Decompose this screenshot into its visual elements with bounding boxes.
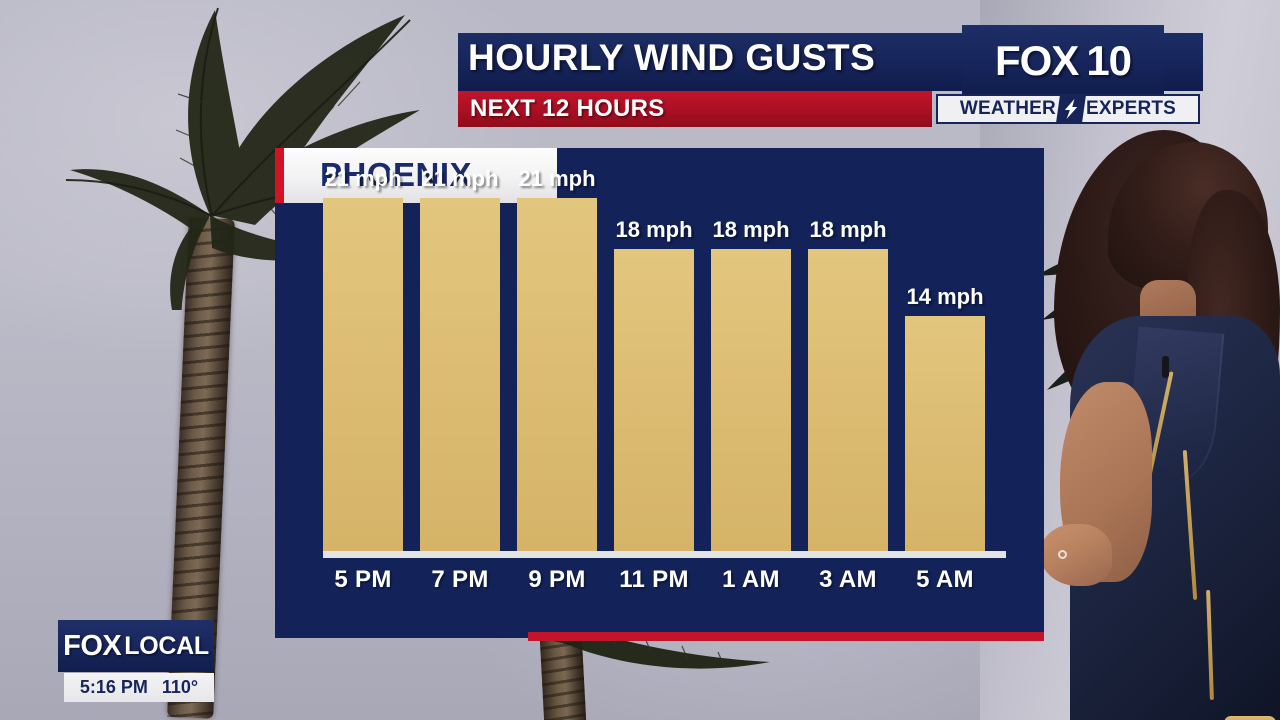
bar-value-label: 18 mph [712,217,789,243]
lightning-bolt-icon [1056,96,1086,122]
headline-text: HOURLY WIND GUSTS [468,37,875,79]
x-axis-label: 1 AM [701,566,801,594]
station-bug: FOX LOCAL 5:16 PM 110° [58,620,214,702]
channel-number: 10 [1086,37,1131,85]
x-axis-label: 11 PM [604,566,704,594]
x-axis-label: 5 AM [895,566,995,594]
subhead-banner: NEXT 12 HOURS [458,91,932,127]
network-logo-fox10: FOX 10 [962,25,1164,97]
bar-chart: 21 mph21 mph21 mph18 mph18 mph18 mph14 m… [275,148,1044,638]
current-temperature: 110° [162,677,198,698]
bar [905,316,985,551]
local-word: LOCAL [124,632,209,661]
bar-column: 21 mph [517,148,597,551]
bar-value-label: 18 mph [615,217,692,243]
weather-word: WEATHER [960,98,1056,120]
x-axis-label: 5 PM [313,566,413,594]
x-axis-label: 9 PM [507,566,607,594]
x-axis-label: 7 PM [410,566,510,594]
lapel-microphone [1162,356,1169,378]
time-temp-strip: 5:16 PM 110° [64,673,214,702]
x-axis-labels: 5 PM7 PM9 PM11 PM1 AM3 AM5 AM [323,566,1006,606]
fox-word: FOX [63,630,121,663]
fox-local-logo: FOX LOCAL [58,620,214,672]
weather-experts-bar: WEATHER EXPERTS [936,94,1200,124]
bar [517,198,597,551]
bar-column: 14 mph [905,148,985,551]
bracelet [1224,716,1276,720]
bar [614,249,694,551]
current-time: 5:16 PM [80,677,148,698]
bar-value-label: 18 mph [809,217,886,243]
ring [1058,550,1067,559]
x-axis-label: 3 AM [798,566,898,594]
experts-word: EXPERTS [1086,98,1176,120]
bar [808,249,888,551]
bar-column: 18 mph [614,148,694,551]
bar-value-label: 21 mph [324,166,401,192]
bar-series: 21 mph21 mph21 mph18 mph18 mph18 mph14 m… [323,148,1006,551]
fox-word: FOX [995,37,1078,85]
hand [1040,524,1112,586]
bar [711,249,791,551]
bar-column: 21 mph [420,148,500,551]
bar-value-label: 21 mph [518,166,595,192]
subhead-text: NEXT 12 HOURS [470,95,665,123]
bar-value-label: 14 mph [906,284,983,310]
bar-column: 18 mph [808,148,888,551]
chart-baseline [323,551,1006,558]
bar [420,198,500,551]
meteorologist-on-camera [1012,120,1280,720]
bar-value-label: 21 mph [421,166,498,192]
fox10-wordmark: FOX 10 [995,37,1131,85]
bar [323,198,403,551]
bar-column: 18 mph [711,148,791,551]
bar-column: 21 mph [323,148,403,551]
